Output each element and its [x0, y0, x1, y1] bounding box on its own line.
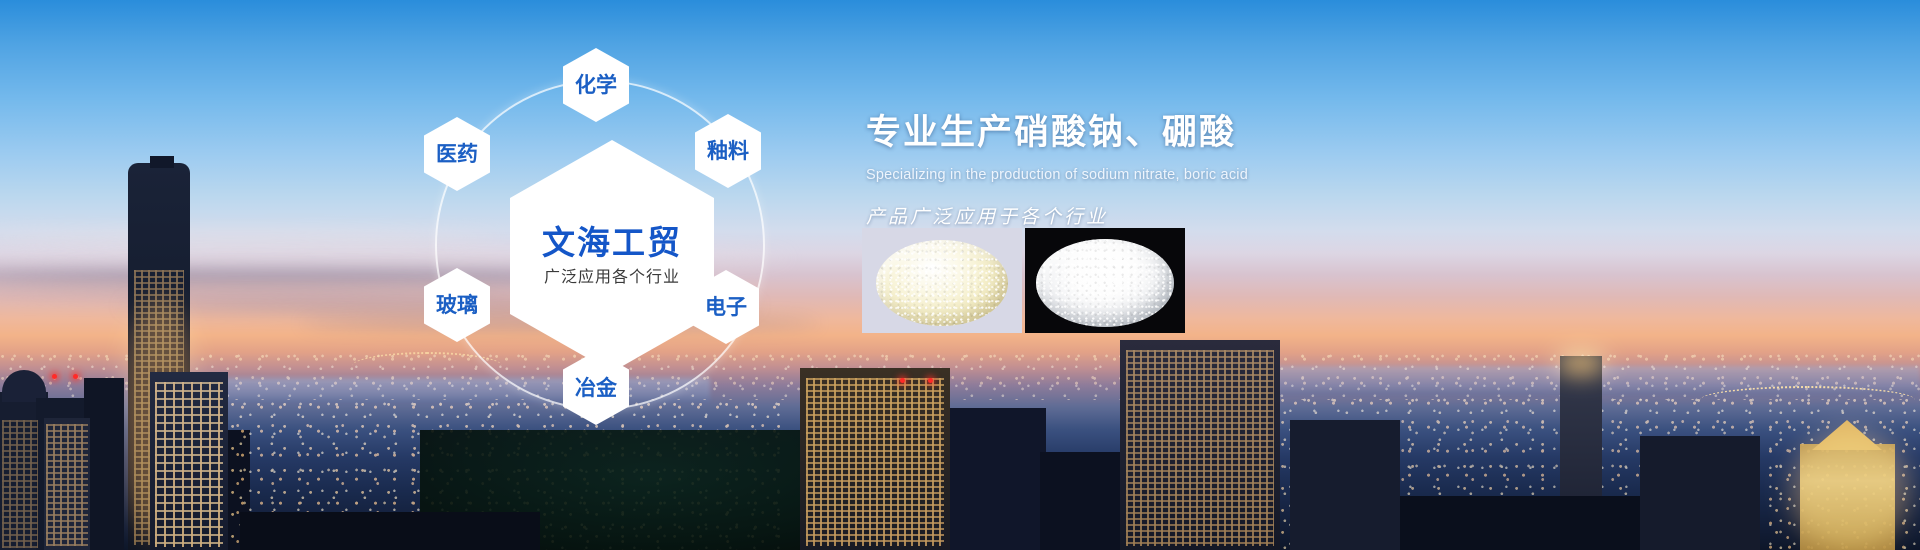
cloud-streak [0, 232, 500, 242]
building-window-lights [806, 378, 944, 546]
building-window-lights [1126, 350, 1274, 546]
building-block [1290, 420, 1400, 550]
tagline: 产品广泛应用于各个行业 [866, 202, 1486, 229]
hex-electronics-label: 电子 [705, 297, 747, 318]
rooftop-foreground [1400, 496, 1640, 550]
building-block [1640, 436, 1760, 550]
tower-top-glow [1556, 352, 1606, 374]
product-photo-sodium-nitrate [862, 228, 1022, 333]
hero-banner: 文海工贸 广泛应用各个行业 化学 釉料 电子 冶金 玻璃 医药 专业生产硝酸钠、… [0, 0, 1920, 550]
brand-slogan: 广泛应用各个行业 [544, 270, 680, 286]
antenna-warning-light [52, 374, 57, 379]
product-photo-boric-acid [1025, 228, 1185, 333]
powder-heap-white [1036, 239, 1174, 327]
rooftop-foreground [240, 512, 540, 550]
brand-name: 文海工贸 [542, 226, 682, 259]
powder-heap-cream [876, 240, 1008, 326]
hex-glaze-label: 釉料 [707, 141, 749, 162]
distant-city-lights [0, 352, 1920, 400]
building-block [84, 378, 124, 550]
hex-chemical-label: 化学 [575, 75, 617, 96]
antenna-warning-light [900, 378, 905, 383]
hex-metallurgy-label: 冶金 [575, 378, 617, 399]
building-window-lights [2, 420, 38, 548]
antenna-warning-light [928, 378, 933, 383]
powder-grain-texture [876, 240, 1008, 326]
powder-grain-texture [1036, 239, 1174, 327]
building-block [950, 408, 1046, 550]
subheadline-english: Specializing in the production of sodium… [866, 167, 1486, 183]
golden-landmark-glow [1790, 430, 1910, 550]
hex-glass-label: 玻璃 [436, 295, 478, 316]
headline: 专业生产硝酸钠、硼酸 [866, 104, 1486, 155]
building-window-lights [46, 424, 88, 546]
copy-block: 专业生产硝酸钠、硼酸 Specializing in the productio… [866, 104, 1486, 229]
tower-crown [150, 156, 174, 168]
antenna-warning-light [73, 374, 78, 379]
illuminated-tower-lights [155, 382, 223, 547]
hex-pharmaceutical-label: 医药 [436, 144, 478, 165]
